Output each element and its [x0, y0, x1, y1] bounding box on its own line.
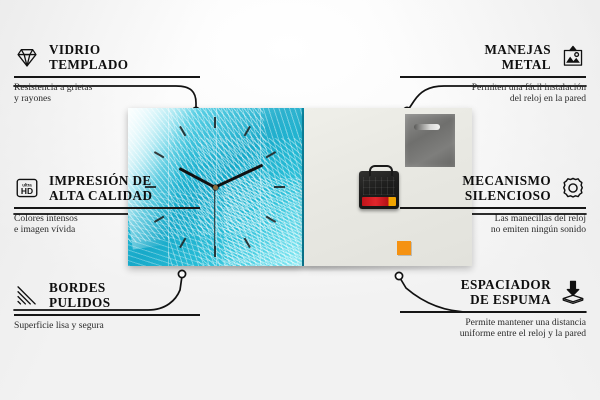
mechanism-detail	[363, 177, 395, 195]
feature-title: VIDRIO TEMPLADO	[49, 42, 128, 72]
hanging-picture-icon	[560, 44, 586, 70]
battery	[362, 197, 396, 206]
gear-icon	[560, 175, 586, 201]
feature-header: BORDES PULIDOS	[14, 280, 200, 310]
hanger-slot	[414, 124, 440, 130]
clock-tick	[214, 117, 216, 187]
feature-divider	[400, 76, 586, 78]
clock-center-cap	[213, 185, 218, 190]
feature-bordes-pulidos: BORDES PULIDOS Superficie lisa y segura	[14, 280, 200, 331]
feature-subtitle: Permiten una fácil instalación del reloj…	[400, 82, 586, 105]
feature-title: IMPRESIÓN DE ALTA CALIDAD	[49, 173, 152, 203]
feature-espaciador-de-espuma: ESPACIADOR DE ESPUMA Permite mantener un…	[400, 277, 586, 340]
ultra-hd-large-label: HD	[21, 186, 33, 196]
feature-header: ESPACIADOR DE ESPUMA	[400, 277, 586, 307]
clock-mechanism	[359, 171, 399, 209]
foam-spacer	[397, 241, 411, 255]
clock-tick	[215, 186, 285, 188]
feature-title: ESPACIADOR DE ESPUMA	[400, 277, 551, 307]
arrow-down-pad-icon	[560, 279, 586, 305]
feature-header: VIDRIO TEMPLADO	[14, 42, 200, 72]
feature-vidrio-templado: VIDRIO TEMPLADO Resistencia a grietas y …	[14, 42, 200, 105]
ultra-hd-icon: ultra HD	[14, 175, 40, 201]
feature-divider	[400, 311, 586, 313]
polished-edge-icon	[14, 282, 40, 308]
feature-header: MECANISMO SILENCIOSO	[400, 173, 586, 203]
feature-title: MANEJAS METAL	[400, 42, 551, 72]
feature-divider	[14, 314, 200, 316]
metal-hanger-plate	[405, 114, 455, 167]
feature-impresion-alta-calidad: ultra HD IMPRESIÓN DE ALTA CALIDAD Color…	[14, 173, 200, 236]
feature-title: MECANISMO SILENCIOSO	[400, 173, 551, 203]
feature-subtitle: Permite mantener una distancia uniforme …	[400, 317, 586, 340]
feature-subtitle: Colores intensos e imagen vívida	[14, 213, 200, 236]
feature-header: ultra HD IMPRESIÓN DE ALTA CALIDAD	[14, 173, 200, 203]
feature-divider	[400, 207, 586, 209]
feature-subtitle: Superficie lisa y segura	[14, 320, 200, 332]
diamond-icon	[14, 44, 40, 70]
feature-divider	[14, 76, 200, 78]
feature-subtitle: Las manecillas del reloj no emiten ningú…	[400, 213, 586, 236]
infographic-canvas: VIDRIO TEMPLADO Resistencia a grietas y …	[0, 0, 600, 400]
feature-mecanismo-silencioso: MECANISMO SILENCIOSO Las manecillas del …	[400, 173, 586, 236]
feature-subtitle: Resistencia a grietas y rayones	[14, 82, 200, 105]
feature-title: BORDES PULIDOS	[49, 280, 110, 310]
feature-manejas-metal: MANEJAS METAL Permiten una fácil instala…	[400, 42, 586, 105]
mechanism-loop	[369, 165, 393, 176]
feature-header: MANEJAS METAL	[400, 42, 586, 72]
feature-divider	[14, 207, 200, 209]
